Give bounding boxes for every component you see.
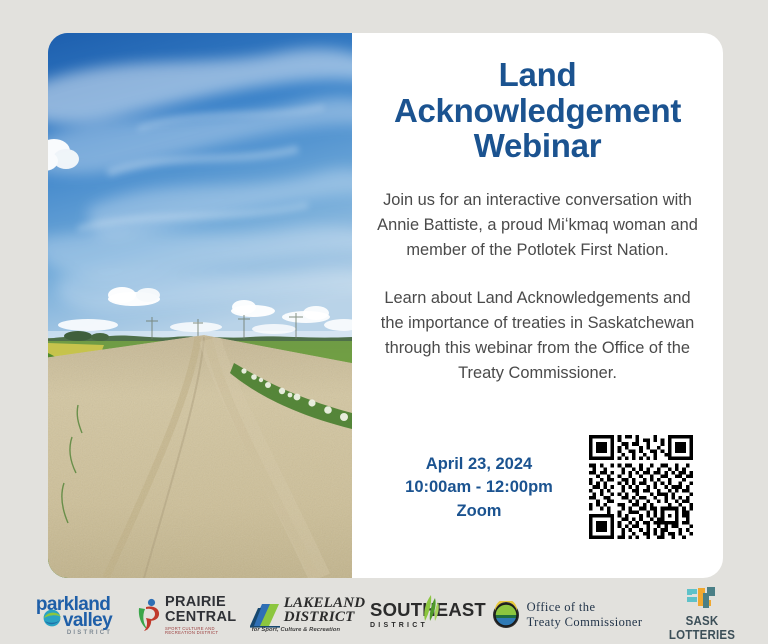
logo-lakeland-district: LAKELAND DISTRICT for Sport, Culture & R…	[244, 591, 369, 639]
logo-prairie-central: PRAIRIE CENTRAL SPORT CULTURE AND RECREA…	[134, 591, 244, 639]
event-time: 10:00am - 12:00pm	[374, 476, 584, 499]
prairie-central-line1: PRAIRIE	[165, 595, 244, 610]
intro-paragraph: Join us for an interactive conversation …	[377, 188, 699, 263]
event-platform: Zoom	[374, 500, 584, 523]
sask-lotteries-wordmark: SASK LOTTERIES	[651, 614, 752, 642]
logo-south-east-district: SOUTHEAST DISTRICT	[369, 591, 487, 639]
poster-card: Land Acknowledgement Webinar Join us for…	[48, 33, 723, 578]
prairie-road-photo	[48, 33, 352, 578]
prairie-central-figure-icon	[134, 598, 164, 632]
partner-logo-strip: parkland valley DISTRICT PRAIRIE CENTRAL…	[0, 586, 768, 644]
treaty-commissioner-globe-icon	[492, 601, 520, 629]
lakeland-tagline: for Sport, Culture & Recreation	[252, 628, 366, 634]
event-info: April 23, 2024 10:00am - 12:00pm Zoom	[374, 453, 584, 523]
south-east-leaf-icon	[419, 595, 441, 621]
prairie-central-line2: CENTRAL	[165, 610, 244, 625]
registration-qr-code[interactable]	[589, 435, 693, 539]
description-paragraph: Learn about Land Acknowledgements and th…	[377, 286, 699, 386]
sask-lotteries-mark-icon	[685, 586, 719, 612]
lakeland-line2: DISTRICT	[284, 610, 366, 625]
prairie-central-tagline: SPORT CULTURE AND RECREATION DISTRICT	[165, 627, 244, 636]
logo-office-of-the-treaty-commissioner: Office of the Treaty Commissioner	[487, 591, 647, 639]
lakeland-district-mark-icon	[248, 600, 282, 630]
south-east-line1b: EAST	[436, 599, 486, 620]
otc-line1: Office of the	[527, 600, 643, 615]
parkland-valley-line3: DISTRICT	[36, 630, 112, 636]
parkland-valley-swirl-icon	[41, 607, 63, 627]
otc-line2: Treaty Commissioner	[527, 615, 643, 630]
event-details-row: April 23, 2024 10:00am - 12:00pm Zoom	[352, 435, 723, 560]
page-title: Land Acknowledgement Webinar	[373, 57, 703, 164]
poster-content: Land Acknowledgement Webinar Join us for…	[352, 33, 723, 578]
event-date: April 23, 2024	[374, 453, 584, 476]
logo-sask-lotteries: SASK LOTTERIES	[647, 591, 757, 639]
south-east-line2: DISTRICT	[370, 622, 486, 629]
logo-parkland-valley: parkland valley DISTRICT	[14, 591, 134, 639]
